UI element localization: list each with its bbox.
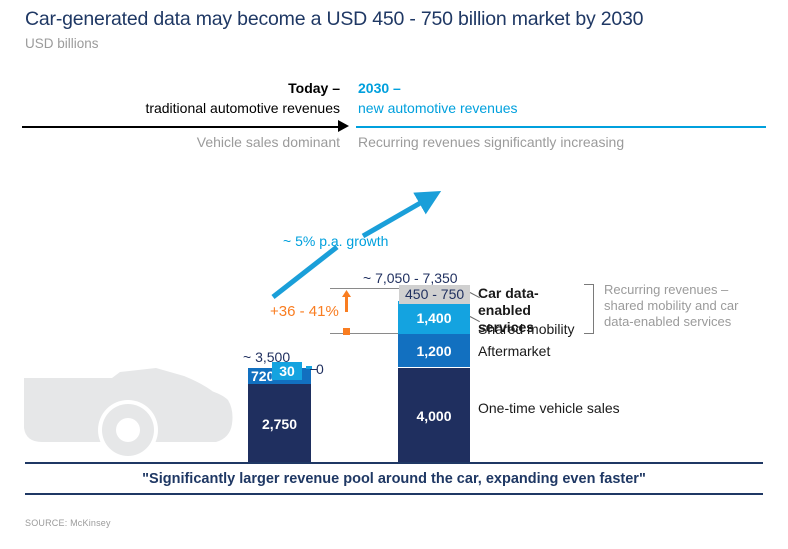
delta-bottom-leader (330, 333, 402, 334)
source-note: SOURCE: McKinsey (25, 518, 111, 528)
bar-segment-2030-vehicle-sales: 4,000 (398, 368, 470, 463)
bar-segment-2030-aftermarket: 1,200 (398, 334, 470, 367)
delta-up-arrow-icon (342, 290, 351, 312)
delta-annotation: +36 - 41% (270, 303, 339, 320)
delta-base-marker (343, 328, 350, 335)
bar-segment-today-vehicle-sales: 2,750 (248, 384, 311, 463)
legend-label-shared-mobility: Shared mobility (478, 321, 575, 337)
bar-segment-2030-car-data-services-badge: 450 - 750 (399, 285, 470, 304)
summary-banner: "Significantly larger revenue pool aroun… (25, 464, 763, 493)
today-car-data-value: 0 (316, 361, 324, 377)
banner-bottom-rule (25, 493, 763, 495)
summary-banner-text: "Significantly larger revenue pool aroun… (142, 471, 646, 487)
legend-label-vehicle-sales: One-time vehicle sales (478, 400, 620, 416)
today-total-label: ~ 3,500 (243, 349, 290, 365)
recurring-revenue-note: Recurring revenues – shared mobility and… (604, 282, 749, 330)
delta-top-leader (330, 288, 402, 289)
2030-total-label: ~ 7,050 - 7,350 (363, 270, 458, 286)
legend-label-aftermarket: Aftermarket (478, 343, 550, 359)
growth-annotation: ~ 5% p.a. growth (283, 233, 388, 249)
bar-segment-2030-shared-mobility: 1,400 (398, 301, 470, 334)
recurring-revenue-bracket (584, 284, 594, 334)
